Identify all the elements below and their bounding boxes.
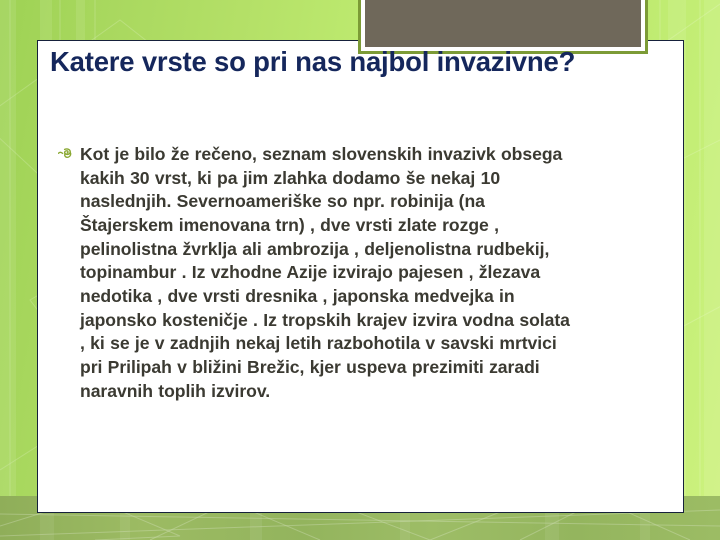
bullet-item: Kot je bilo že rečeno, seznam slovenskih… xyxy=(58,143,578,403)
picture-placeholder-image xyxy=(365,0,641,47)
leaf-flourish-bullet-icon xyxy=(58,147,80,159)
slide-title: Katere vrste so pri nas najbol invazivne… xyxy=(50,43,595,81)
bullet-item-text: Kot je bilo že rečeno, seznam slovenskih… xyxy=(80,143,578,403)
slide: Katere vrste so pri nas najbol invazivne… xyxy=(0,0,720,540)
slide-body: Kot je bilo že rečeno, seznam slovenskih… xyxy=(58,143,578,403)
